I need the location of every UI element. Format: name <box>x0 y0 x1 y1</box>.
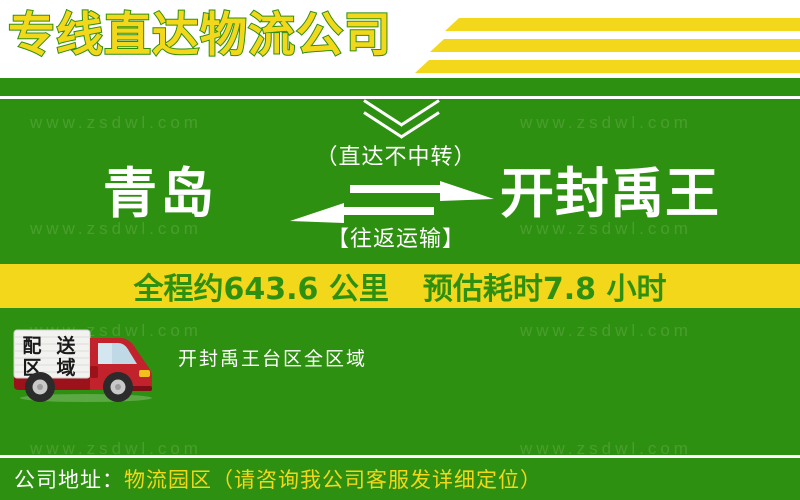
svg-text:域: 域 <box>56 356 75 379</box>
watermark: www.zsdwl.com <box>30 439 202 455</box>
duration-text: 预估耗时7.8 小时 <box>423 264 667 308</box>
watermark: www.zsdwl.com <box>520 321 692 341</box>
delivery-truck-icon: 配 送 区 域 <box>8 324 163 404</box>
stripe-1 <box>445 18 800 31</box>
watermark: www.zsdwl.com <box>520 439 692 455</box>
company-headline: 专线直达物流公司 <box>8 6 392 66</box>
stripe-2 <box>430 39 800 52</box>
address-label: 公司地址： <box>0 464 124 494</box>
svg-text:配: 配 <box>22 335 41 357</box>
stripe-3 <box>415 60 800 73</box>
destination-city: 开封禹王 <box>500 163 800 225</box>
chevron-down-icon <box>363 99 439 133</box>
watermark: www.zsdwl.com <box>30 113 202 133</box>
svg-text:送: 送 <box>56 334 76 357</box>
decorative-stripes <box>415 0 800 78</box>
banner-header: 专线直达物流公司 <box>0 0 800 78</box>
route-mode: 【往返运输】 <box>296 221 496 253</box>
green-accent-bar <box>0 78 800 96</box>
bidirectional-arrow-icon <box>290 179 494 225</box>
watermark: www.zsdwl.com <box>520 113 692 133</box>
stats-band: 全程约643.6 公里 预估耗时7.8 小时 <box>0 264 800 308</box>
origin-city: 青岛 <box>60 163 260 225</box>
main-panel: www.zsdwl.com www.zsdwl.com www.zsdwl.co… <box>0 99 800 455</box>
company-address-bar: 公司地址： 物流园区（请咨询我公司客服发详细定位） <box>0 458 800 500</box>
distance-text: 全程约643.6 公里 <box>134 264 389 308</box>
route-note: （直达不中转） <box>296 139 496 171</box>
address-value: 物流园区（请咨询我公司客服发详细定位） <box>124 464 542 494</box>
delivery-area-text: 开封禹王台区全区域 <box>178 344 367 371</box>
logistics-banner: 专线直达物流公司 www.zsdwl.com www.zsdwl.com www… <box>0 0 800 500</box>
